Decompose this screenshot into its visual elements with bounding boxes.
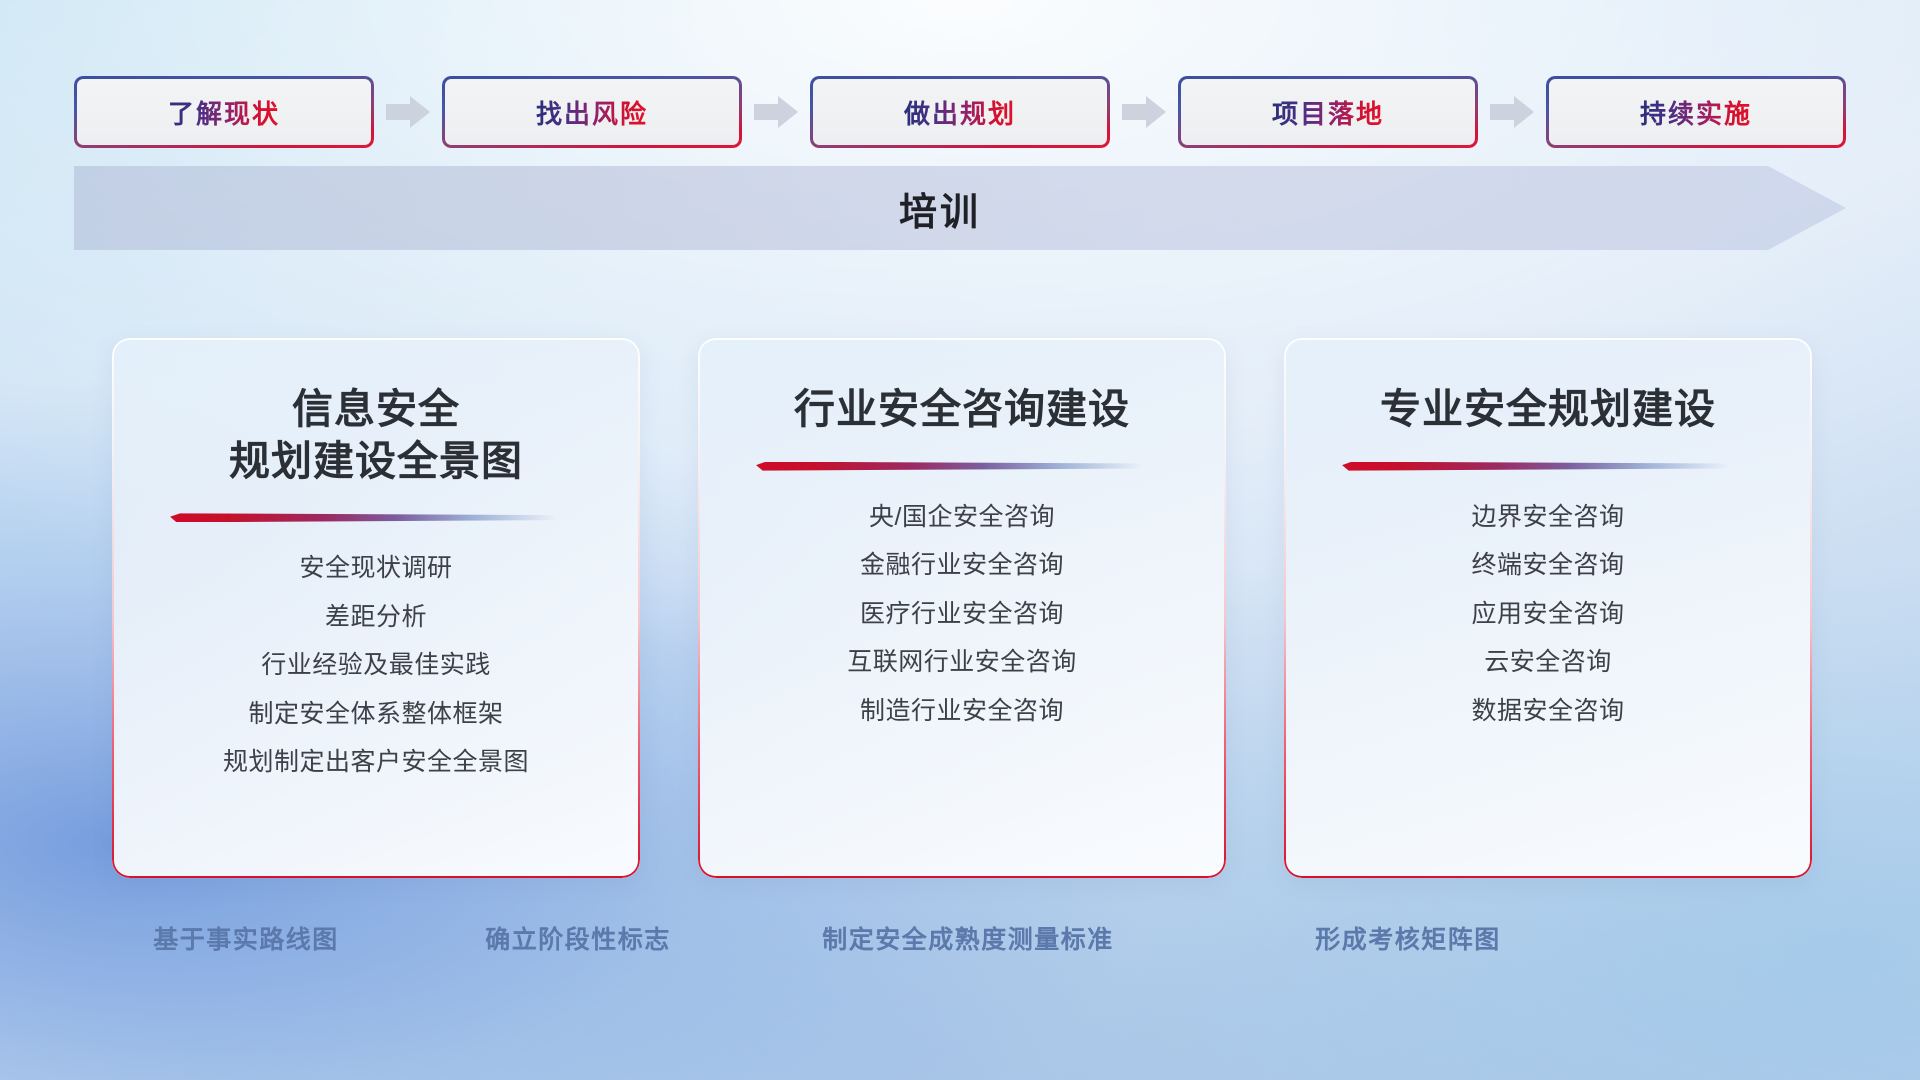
card-title: 信息安全 规划建设全景图 [229, 384, 523, 487]
step-box-5[interactable]: 持续实施 [1546, 76, 1846, 148]
process-step-row: 了解现状 找出风险 做出规划 项目落地 持续实施 [74, 76, 1846, 148]
card-list: 央/国企安全咨询 金融行业安全咨询 医疗行业安全咨询 互联网行业安全咨询 制造行… [728, 499, 1196, 731]
card-divider [756, 462, 1168, 471]
list-item: 安全现状调研 [299, 550, 452, 588]
card-list: 边界安全咨询 终端安全咨询 应用安全咨询 云安全咨询 数据安全咨询 [1314, 499, 1782, 731]
step-label-2: 找出风险 [536, 94, 648, 131]
card-title: 专业安全规划建设 [1380, 384, 1716, 436]
step-label-3: 做出规划 [904, 94, 1016, 131]
step-label-5: 持续实施 [1640, 94, 1752, 131]
card-divider [170, 513, 582, 522]
step-arrow-2 [742, 96, 810, 128]
banner-title: 培训 [74, 166, 1846, 250]
card-title: 行业安全咨询建设 [794, 384, 1130, 436]
card-industry-security-consulting[interactable]: 行业安全咨询建设 央/国企安全咨询 金融行业安全咨询 医疗行业安全咨询 互联网行… [698, 338, 1226, 878]
step-box-2[interactable]: 找出风险 [442, 76, 742, 148]
list-item: 差距分析 [325, 599, 427, 637]
footer-label-2: 确立阶段性标志 [485, 920, 671, 956]
list-item: 央/国企安全咨询 [869, 499, 1055, 537]
step-arrow-1 [374, 96, 442, 128]
step-label-4: 项目落地 [1272, 94, 1384, 131]
step-box-4[interactable]: 项目落地 [1178, 76, 1478, 148]
step-box-3[interactable]: 做出规划 [810, 76, 1110, 148]
step-arrow-4 [1478, 96, 1546, 128]
list-item: 数据安全咨询 [1471, 693, 1624, 731]
list-item: 制造行业安全咨询 [860, 693, 1064, 731]
training-banner: 培训 [74, 166, 1846, 250]
footer-label-3: 制定安全成熟度测量标准 [822, 920, 1114, 956]
card-divider [1342, 462, 1754, 471]
card-professional-security-planning[interactable]: 专业安全规划建设 边界安全咨询 终端安全咨询 应用安全咨询 云安全咨询 数据安全… [1284, 338, 1812, 878]
list-item: 金融行业安全咨询 [860, 547, 1064, 585]
list-item: 终端安全咨询 [1471, 547, 1624, 585]
footer-label-4: 形成考核矩阵图 [1315, 920, 1501, 956]
list-item: 应用安全咨询 [1471, 596, 1624, 634]
list-item: 互联网行业安全咨询 [847, 644, 1077, 682]
card-info-security-panorama[interactable]: 信息安全 规划建设全景图 安全现状调研 差距分析 行业经验及最佳实践 制定安全体… [112, 338, 640, 878]
footer-label-1: 基于事实路线图 [153, 920, 339, 956]
list-item: 制定安全体系整体框架 [248, 696, 503, 734]
list-item: 医疗行业安全咨询 [860, 596, 1064, 634]
card-row: 信息安全 规划建设全景图 安全现状调研 差距分析 行业经验及最佳实践 制定安全体… [112, 338, 1812, 878]
list-item: 边界安全咨询 [1471, 499, 1624, 537]
list-item: 规划制定出客户安全全景图 [223, 744, 529, 782]
footer-label-row: 基于事实路线图 确立阶段性标志 制定安全成熟度测量标准 形成考核矩阵图 [0, 920, 1920, 980]
step-label-1: 了解现状 [168, 94, 280, 131]
step-arrow-3 [1110, 96, 1178, 128]
step-box-1[interactable]: 了解现状 [74, 76, 374, 148]
card-list: 安全现状调研 差距分析 行业经验及最佳实践 制定安全体系整体框架 规划制定出客户… [142, 550, 610, 782]
list-item: 行业经验及最佳实践 [261, 647, 491, 685]
list-item: 云安全咨询 [1484, 644, 1612, 682]
